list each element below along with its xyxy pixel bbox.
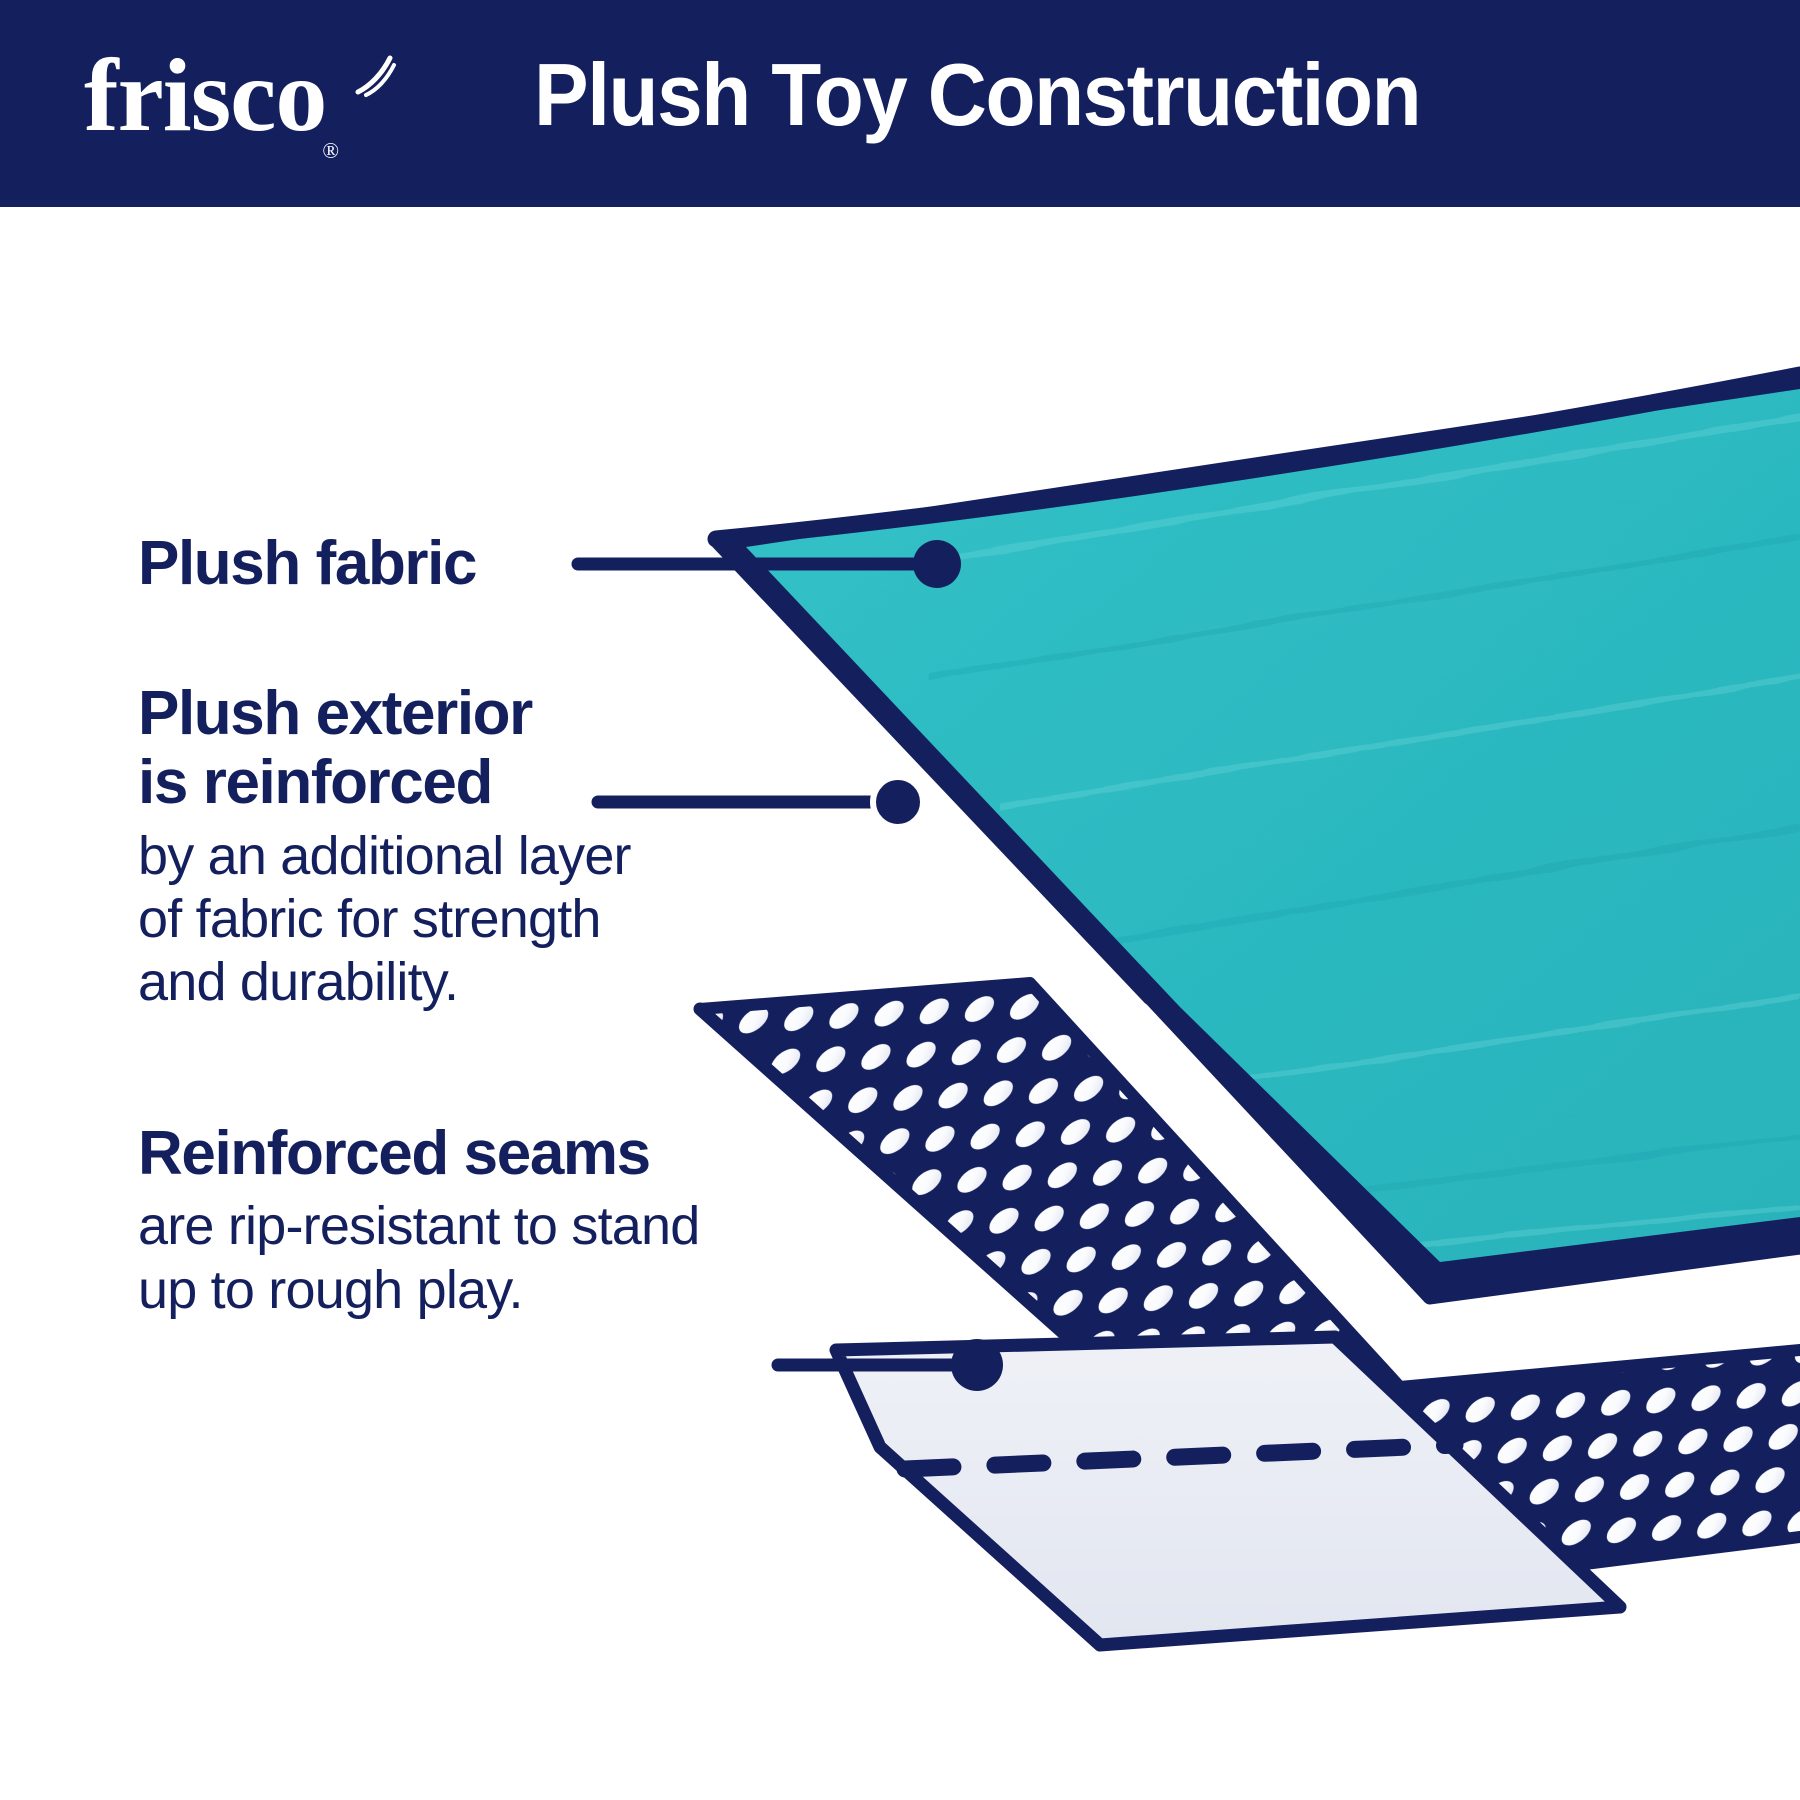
- callout-reinforced-seams-heading: Reinforced seams: [138, 1119, 699, 1188]
- callout-plush-fabric: Plush fabric: [138, 529, 476, 598]
- callout-plush-fabric-heading: Plush fabric: [138, 529, 476, 598]
- swoosh-tail-icon: [352, 52, 398, 98]
- callout-plush-exterior: Plush exterior is reinforced by an addit…: [138, 679, 631, 1014]
- callout-plush-exterior-heading: Plush exterior is reinforced: [138, 679, 631, 818]
- leader-plush-exterior: [598, 777, 923, 827]
- illustration-stage: Plush fabric Plush exterior is reinforce…: [0, 207, 1800, 1800]
- registered-trademark-icon: ®: [322, 138, 338, 163]
- callout-reinforced-seams: Reinforced seams are rip-resistant to st…: [138, 1119, 699, 1322]
- callout-reinforced-seams-body: are rip-resistant to stand up to rough p…: [138, 1195, 699, 1321]
- logo-wordmark: frisco: [84, 38, 326, 153]
- page-title: Plush Toy Construction: [534, 47, 1420, 144]
- frisco-logo: frisco®: [84, 44, 342, 156]
- page-header: frisco® Plush Toy Construction: [0, 0, 1800, 207]
- callout-plush-exterior-body: by an additional layer of fabric for str…: [138, 825, 631, 1015]
